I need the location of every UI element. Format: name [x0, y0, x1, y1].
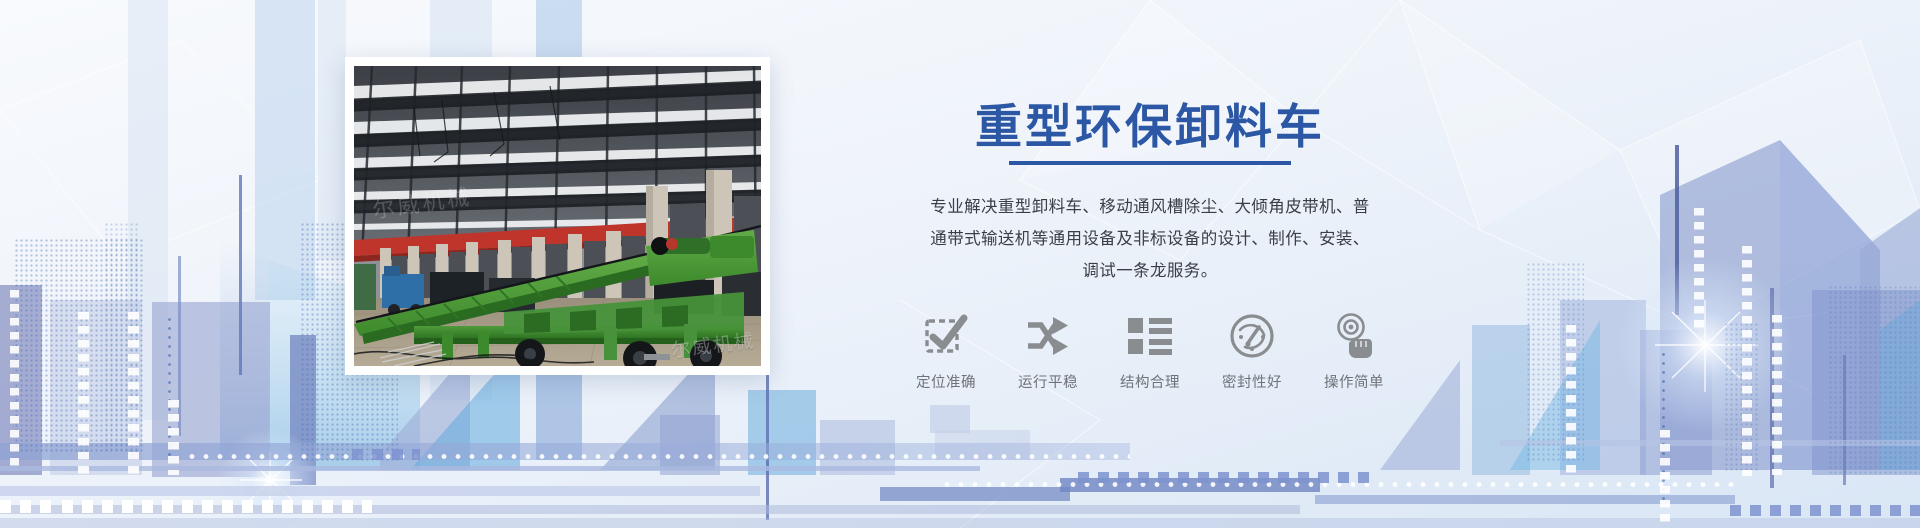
feature-item-sealing[interactable]: 密封性好: [1214, 310, 1290, 392]
feature-label: 定位准确: [908, 371, 984, 392]
feature-label: 操作简单: [1316, 371, 1392, 392]
dot-column-a: [166, 315, 173, 463]
feature-label: 运行平稳: [1010, 371, 1086, 392]
window-row-c: [128, 312, 139, 477]
hand-touch-icon: [1316, 310, 1392, 362]
feature-label: 密封性好: [1214, 371, 1290, 392]
dot-grid-right-c: [1724, 322, 1758, 472]
window-row-b: [78, 312, 89, 477]
description-line: 专业解决重型卸料车、移动通风槽除尘、大倾角皮带机、普: [820, 191, 1480, 223]
feature-item-operation[interactable]: 操作简单: [1316, 310, 1392, 392]
product-photo-frame: 尔威机械 尔威机械: [345, 57, 770, 375]
window-row-h: [1772, 315, 1782, 475]
shuffle-arrows-icon: [1010, 310, 1086, 362]
dot-grid-right-a: [1526, 262, 1584, 462]
feature-list: 定位准确 运行平稳: [820, 310, 1480, 392]
description-line: 调试一条龙服务。: [820, 255, 1480, 287]
feature-item-stability[interactable]: 运行平稳: [1010, 310, 1086, 392]
list-grid-icon: [1112, 310, 1188, 362]
feature-label: 结构合理: [1112, 371, 1188, 392]
dot-grid-left: [14, 238, 144, 453]
description-line: 通带式输送机等通用设备及非标设备的设计、制作、安装、: [820, 223, 1480, 255]
window-row-f: [1742, 246, 1752, 476]
window-row-i: [1660, 430, 1670, 525]
dot-column-b: [1660, 350, 1667, 500]
window-row-a: [10, 290, 19, 470]
square-dash-far-right: [1730, 505, 1920, 516]
hero-banner: 尔威机械 尔威机械 重型环保卸料车 专业解决重型卸料车、移动通风槽除尘、大倾角皮…: [0, 0, 1920, 528]
page-title: 重型环保卸料车: [820, 100, 1480, 154]
gauge-circle-icon: [1214, 310, 1290, 362]
dotted-separator-right: [940, 480, 1740, 489]
check-box-icon: [908, 310, 984, 362]
dot-grid-right-b: [1828, 285, 1920, 475]
square-dash-upper: [352, 449, 420, 460]
square-dash-bottom-2: [0, 500, 56, 513]
window-row-g: [1566, 325, 1576, 475]
window-row-d: [168, 400, 179, 475]
window-row-e: [1694, 208, 1704, 328]
feature-item-positioning[interactable]: 定位准确: [908, 310, 984, 392]
square-dash-bottom: [62, 500, 372, 513]
dotted-separator-left: [185, 452, 1130, 461]
banner-description: 专业解决重型卸料车、移动通风槽除尘、大倾角皮带机、普 通带式输送机等通用设备及非…: [820, 191, 1480, 288]
square-dash-mid: [1078, 472, 1376, 483]
title-underline: [1009, 161, 1291, 165]
dot-grid-mid: [104, 222, 140, 452]
product-photo: 尔威机械 尔威机械: [354, 66, 761, 366]
feature-item-structure[interactable]: 结构合理: [1112, 310, 1188, 392]
banner-content: 重型环保卸料车 专业解决重型卸料车、移动通风槽除尘、大倾角皮带机、普 通带式输送…: [820, 100, 1480, 392]
